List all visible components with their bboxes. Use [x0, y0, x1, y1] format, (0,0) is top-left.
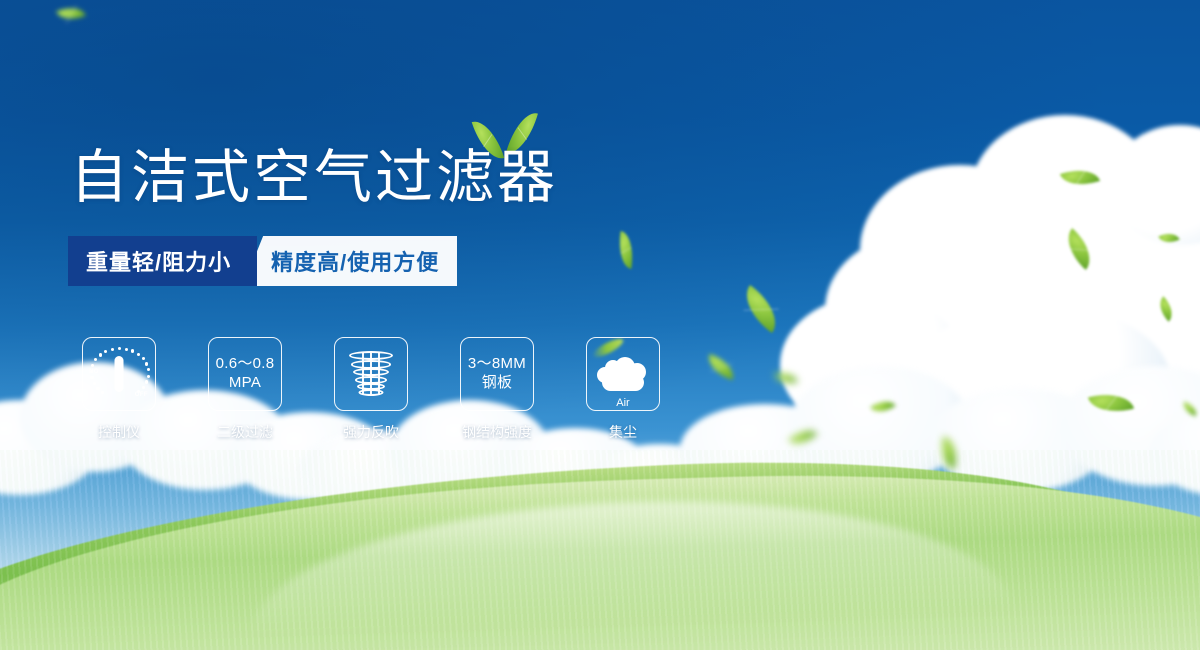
- feature-label: 钢结构强度: [462, 422, 532, 442]
- page-title: 自洁式空气过滤器: [70, 146, 558, 209]
- feature-list: NO OFF 控制仪 0.6～0.8 MPA 二级过滤: [82, 337, 660, 442]
- steel-plate-text-icon: 3～8MM 钢板: [460, 337, 534, 411]
- gauge-dial: NO OFF: [90, 345, 148, 403]
- steel-line-1: 3～8MM: [468, 355, 526, 374]
- steel-line-2: 钢板: [482, 374, 513, 393]
- feature-label: 强力反吹: [343, 422, 399, 442]
- feature-item-blowback[interactable]: 强力反吹: [334, 337, 408, 442]
- feature-item-dust-collection[interactable]: Air 集尘: [586, 337, 660, 442]
- cloud-shape: Air: [595, 351, 651, 397]
- pressure-line-2: MPA: [229, 374, 261, 393]
- gauge-label-no: NO: [89, 369, 99, 375]
- pressure-text-icon: 0.6～0.8 MPA: [208, 337, 282, 411]
- air-label: Air: [595, 397, 651, 409]
- feature-label: 二级过滤: [217, 422, 273, 442]
- feature-label: 集尘: [609, 422, 637, 442]
- feature-item-steel-strength[interactable]: 3～8MM 钢板 钢结构强度: [460, 337, 534, 442]
- feature-label: 控制仪: [98, 422, 140, 442]
- pressure-line-1: 0.6～0.8: [216, 355, 275, 374]
- feature-item-controller[interactable]: NO OFF 控制仪: [82, 337, 156, 442]
- product-banner: 自洁式空气过滤器 重量轻/阻力小 精度高/使用方便: [0, 0, 1200, 650]
- air-cloud-icon: Air: [586, 337, 660, 411]
- subtitle-bar: 重量轻/阻力小 精度高/使用方便: [68, 236, 457, 286]
- gauge-icon: NO OFF: [82, 337, 156, 411]
- gauge-label-off: OFF: [135, 392, 148, 398]
- blowback-stack-icon: [334, 337, 408, 411]
- stack-rings: [347, 350, 395, 398]
- subtitle-right: 精度高/使用方便: [243, 236, 457, 286]
- subtitle-left: 重量轻/阻力小: [68, 236, 257, 286]
- feature-item-filtration[interactable]: 0.6～0.8 MPA 二级过滤: [208, 337, 282, 442]
